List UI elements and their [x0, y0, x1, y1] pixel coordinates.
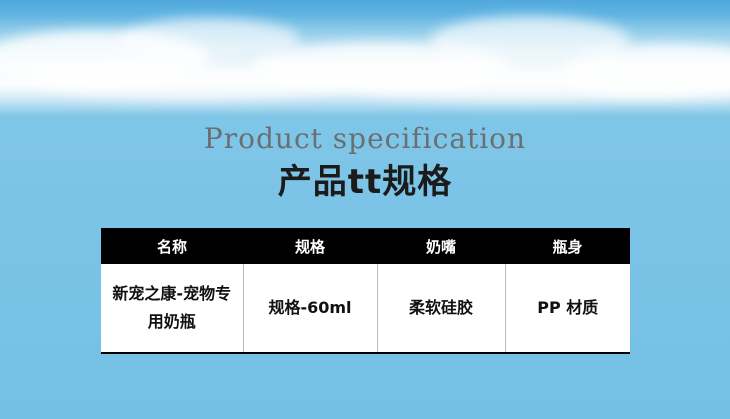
column-header-name: 名称	[101, 228, 243, 264]
page-title-chinese: 产品tt规格	[0, 160, 730, 204]
column-header-spec: 规格	[243, 228, 377, 264]
table-row: 新宠之康-宠物专用奶瓶 规格-60ml 柔软硅胶 PP 材质	[101, 264, 630, 353]
cell-bottle-body: PP 材质	[505, 264, 630, 353]
sky-haze-band	[0, 56, 730, 116]
page-title-english: Product specification	[0, 122, 730, 156]
heading-block: Product specification 产品tt规格	[0, 122, 730, 204]
product-specification-banner: Product specification 产品tt规格 名称 规格 奶嘴 瓶身…	[0, 0, 730, 419]
cell-nipple: 柔软硅胶	[377, 264, 505, 353]
table-header: 名称 规格 奶嘴 瓶身	[101, 228, 630, 264]
column-header-body: 瓶身	[505, 228, 630, 264]
table-body: 新宠之康-宠物专用奶瓶 规格-60ml 柔软硅胶 PP 材质	[101, 264, 630, 353]
column-header-nipple: 奶嘴	[377, 228, 505, 264]
specification-table: 名称 规格 奶嘴 瓶身 新宠之康-宠物专用奶瓶 规格-60ml 柔软硅胶 PP …	[101, 228, 630, 354]
table-header-row: 名称 规格 奶嘴 瓶身	[101, 228, 630, 264]
cell-product-name: 新宠之康-宠物专用奶瓶	[101, 264, 243, 353]
cell-spec: 规格-60ml	[243, 264, 377, 353]
